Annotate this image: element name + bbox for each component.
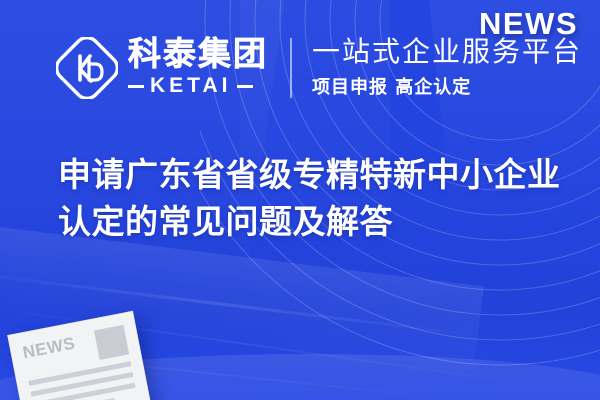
newspaper-heading: NEWS [21,334,77,364]
newspaper-thumbnail-placeholder [94,325,129,360]
brand-name-en: KETAI [150,74,231,98]
page-title: 申请广东省省级专精特新中小企业 认定的常见问题及解答 [58,152,558,246]
brand-name-cn: 科泰集团 [128,37,268,72]
news-banner: 科泰集团 KETAI 一站式企业服务平台 项目申报 高企认定 NEWS 申请广东… [0,0,600,400]
newspaper-illustration: NEWS [7,311,152,400]
ketai-logo-icon [56,37,118,99]
page-title-line-1: 申请广东省省级专精特新中小企业 [58,152,558,199]
dash-right-icon [237,85,253,88]
dash-left-icon [128,85,144,88]
vertical-divider [290,38,292,98]
brand-name-en-row: KETAI [128,74,268,98]
news-label: NEWS [479,6,578,42]
page-title-line-2: 认定的常见问题及解答 [58,199,558,246]
slogan-block: 一站式企业服务平台 项目申报 高企认定 [312,36,582,99]
brand-header: 科泰集团 KETAI 一站式企业服务平台 项目申报 高企认定 [56,36,582,99]
slogan-sub: 项目申报 高企认定 [312,73,582,99]
brand-wordmark: 科泰集团 KETAI [128,37,268,99]
